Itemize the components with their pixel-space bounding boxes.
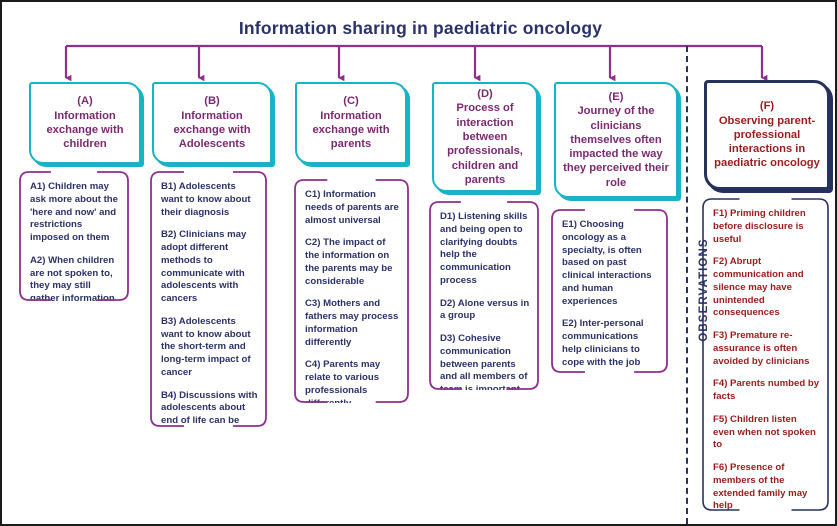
list-item: F1) Priming children before disclosure i… bbox=[713, 208, 820, 246]
list-item: D1) Listening skills and being open to c… bbox=[440, 211, 530, 288]
header-code-b: (B) bbox=[158, 94, 266, 108]
list-item: C4) Parents may relate to various profes… bbox=[305, 359, 400, 403]
list-item: F4) Parents numbed by facts bbox=[713, 378, 820, 404]
header-text-e: Journey of the clinicians themselves oft… bbox=[563, 105, 669, 189]
list-item: B2) Clinicians may adopt different metho… bbox=[161, 229, 258, 306]
header-code-e: (E) bbox=[560, 90, 672, 104]
item-list-e: E1) Choosing oncology as a specialty, is… bbox=[562, 219, 659, 369]
header-box-c[interactable]: (C)Information exchange with parents bbox=[295, 82, 407, 164]
header-box-e[interactable]: (E)Journey of the clinicians themselves … bbox=[554, 82, 678, 198]
list-item: F5) Children listen even when not spoken… bbox=[713, 414, 820, 452]
header-box-f[interactable]: (F)Observing parent-professional interac… bbox=[704, 80, 830, 190]
list-item: B3) Adolescents want to know about the s… bbox=[161, 316, 258, 380]
body-box-c: C1) Information needs of parents are alm… bbox=[294, 179, 409, 403]
header-text-f: Observing parent-professional interactio… bbox=[714, 115, 820, 170]
header-text-b: Information exchange with Adolescents bbox=[173, 110, 250, 151]
body-box-b: B1) Adolescents want to know about their… bbox=[150, 171, 267, 427]
body-box-a: A1) Children may ask more about the 'her… bbox=[19, 171, 129, 301]
body-box-d: D1) Listening skills and being open to c… bbox=[429, 201, 539, 390]
header-code-d: (D) bbox=[438, 87, 532, 101]
page-title: Information sharing in paediatric oncolo… bbox=[2, 18, 837, 39]
list-item: C2) The impact of the information on the… bbox=[305, 237, 400, 288]
header-box-b[interactable]: (B)Information exchange with Adolescents bbox=[152, 82, 272, 164]
header-code-f: (F) bbox=[711, 99, 823, 113]
item-list-c: C1) Information needs of parents are alm… bbox=[305, 189, 400, 403]
body-box-e: E1) Choosing oncology as a specialty, is… bbox=[551, 209, 668, 373]
header-code-c: (C) bbox=[301, 94, 401, 108]
item-list-a: A1) Children may ask more about the 'her… bbox=[30, 181, 120, 301]
body-box-f: F1) Priming children before disclosure i… bbox=[702, 198, 829, 511]
item-list-b: B1) Adolescents want to know about their… bbox=[161, 181, 258, 427]
header-text-a: Information exchange with children bbox=[46, 110, 123, 151]
header-box-a[interactable]: (A)Information exchange with children bbox=[29, 82, 141, 164]
header-code-a: (A) bbox=[35, 94, 135, 108]
list-item: E1) Choosing oncology as a specialty, is… bbox=[562, 219, 659, 308]
header-text-d: Process of interaction between professio… bbox=[447, 102, 523, 186]
list-item: D2) Alone versus in a group bbox=[440, 298, 530, 324]
list-item: F2) Abrupt communication and silence may… bbox=[713, 256, 820, 320]
header-text-c: Information exchange with parents bbox=[312, 110, 389, 151]
list-item: A1) Children may ask more about the 'her… bbox=[30, 181, 120, 245]
list-item: B4) Discussions with adolescents about e… bbox=[161, 390, 258, 428]
list-item: C3) Mothers and fathers may process info… bbox=[305, 298, 400, 349]
observations-label: OBSERVATIONS bbox=[698, 220, 710, 360]
list-item: A2) When children are not spoken to, the… bbox=[30, 255, 120, 301]
diagram-canvas: Information sharing in paediatric oncolo… bbox=[0, 0, 837, 526]
list-item: D3) Cohesive communication between paren… bbox=[440, 333, 530, 390]
header-box-d[interactable]: (D)Process of interaction between profes… bbox=[432, 82, 538, 192]
list-item: B1) Adolescents want to know about their… bbox=[161, 181, 258, 219]
list-item: F3) Premature re-assurance is often avoi… bbox=[713, 330, 820, 368]
list-item: E2) Inter-personal communications help c… bbox=[562, 318, 659, 369]
list-item: F6) Presence of members of the extended … bbox=[713, 462, 820, 511]
list-item: C1) Information needs of parents are alm… bbox=[305, 189, 400, 227]
item-list-d: D1) Listening skills and being open to c… bbox=[440, 211, 530, 390]
observations-divider bbox=[686, 46, 688, 524]
item-list-f: F1) Priming children before disclosure i… bbox=[713, 208, 820, 511]
